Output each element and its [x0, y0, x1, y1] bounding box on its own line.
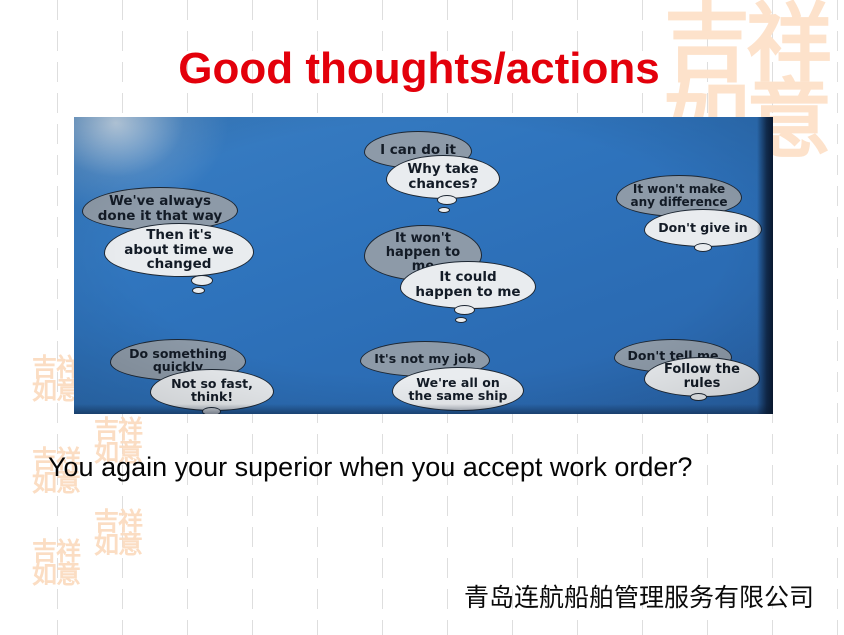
- photo-right-edge-shadow: [757, 117, 773, 414]
- seal-watermark-tile: 吉祥如意: [92, 510, 144, 562]
- photo-bottom-edge-shadow: [74, 404, 773, 414]
- photo-vignette: [74, 117, 773, 414]
- footer-company-name: 青岛连航船舶管理服务有限公司: [0, 578, 814, 614]
- presentation-slide: 吉祥如意 吉祥如意 吉祥如意 吉祥如意 吉祥如意 吉祥如意 Good thoug…: [0, 0, 844, 635]
- thought-bubbles-photo: We've alwaysdone it that way Then it'sab…: [74, 117, 773, 414]
- slide-body-text: You again your superior when you accept …: [48, 446, 808, 490]
- page-title: Good thoughts/actions: [0, 44, 844, 94]
